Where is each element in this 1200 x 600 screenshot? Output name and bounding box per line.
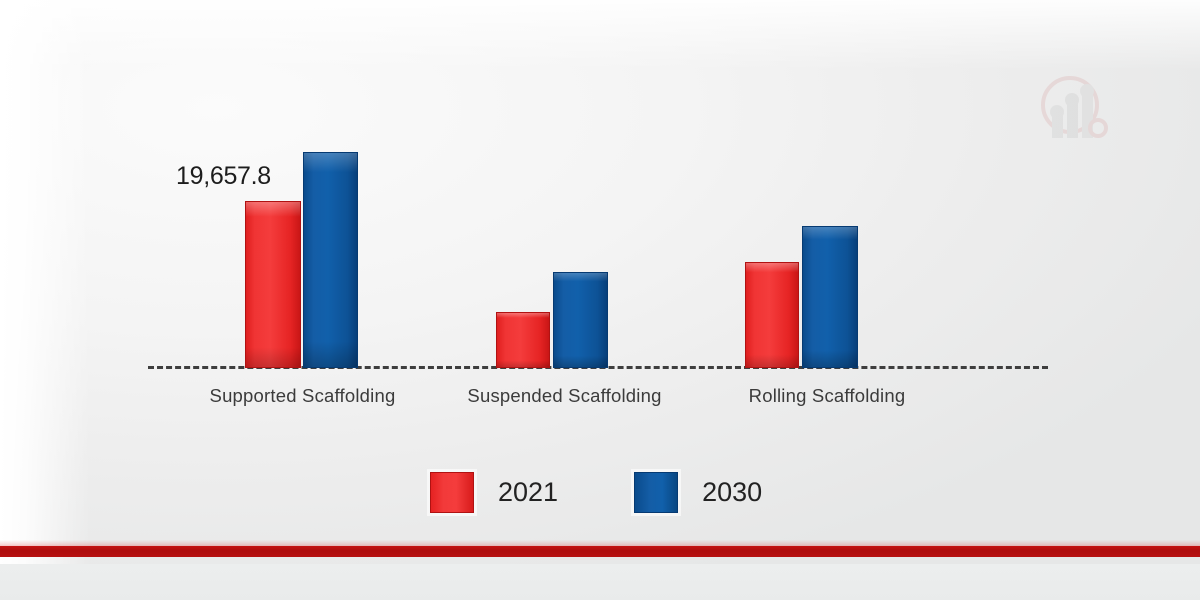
category-label-supported-scaffolding: Supported Scaffolding	[170, 385, 435, 407]
bar-face	[553, 272, 608, 368]
legend-swatch-2021-icon	[430, 472, 474, 513]
bar-suspended-scaffolding-2030[interactable]	[553, 272, 608, 368]
chart-legend: 2021 2030	[430, 472, 762, 513]
legend-label-2030: 2030	[702, 477, 762, 508]
category-label-suspended-scaffolding: Suspended Scaffolding	[432, 385, 697, 407]
legend-item-2030[interactable]: 2030	[634, 472, 762, 513]
bar-rolling-scaffolding-2021[interactable]	[745, 262, 799, 368]
bar-face	[745, 262, 799, 368]
bar-suspended-scaffolding-2021[interactable]	[496, 312, 550, 368]
chart-canvas: Market Size in USD Bn 19,657.8 Supported…	[0, 0, 1200, 600]
bar-face	[496, 312, 550, 368]
bar-supported-scaffolding-2021[interactable]	[245, 201, 301, 368]
footer-area	[0, 564, 1200, 600]
legend-item-2021[interactable]: 2021	[430, 472, 558, 513]
bar-face	[802, 226, 858, 368]
data-label-supported-scaffolding-2021: 19,657.8	[176, 162, 271, 191]
legend-swatch-2030-icon	[634, 472, 678, 513]
legend-label-2021: 2021	[498, 477, 558, 508]
category-label-rolling-scaffolding: Rolling Scaffolding	[702, 385, 952, 407]
bar-supported-scaffolding-2030[interactable]	[303, 152, 358, 368]
bar-face	[245, 201, 301, 368]
bar-face	[303, 152, 358, 368]
bar-rolling-scaffolding-2030[interactable]	[802, 226, 858, 368]
